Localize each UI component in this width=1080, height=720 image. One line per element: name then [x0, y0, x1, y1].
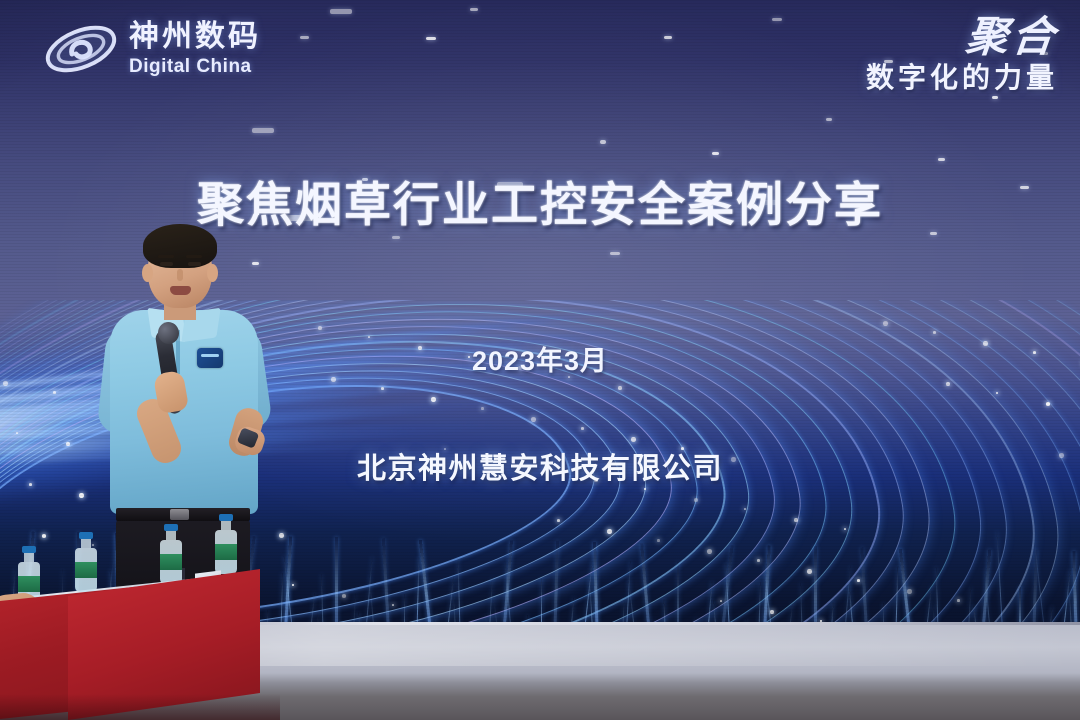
speaker-brow-right — [186, 255, 202, 258]
digital-china-swirl-icon — [42, 18, 120, 80]
speaker-ear-right — [207, 264, 218, 282]
water-bottle — [215, 514, 237, 574]
conference-stage-photo: 神州数码 Digital China 聚合 数字化的力量 聚焦烟草行业工控安全案… — [0, 0, 1080, 720]
screen-particle — [610, 252, 620, 255]
speaker-eye-right — [188, 262, 201, 266]
screen-particle — [392, 236, 400, 239]
screen-particle — [426, 37, 436, 40]
screen-particle — [300, 36, 309, 39]
screen-particle — [772, 18, 782, 21]
speaker-brow-left — [158, 255, 174, 258]
logo-english-name: Digital China — [129, 57, 261, 76]
calligraphy-juhe: 聚合 — [964, 16, 1060, 58]
water-bottle — [75, 532, 97, 592]
water-bottle — [160, 524, 182, 584]
speaker-ear-left — [142, 264, 153, 282]
screen-particle — [992, 96, 998, 99]
speaker-chest-logo — [197, 348, 223, 368]
speaker-nose — [177, 269, 183, 281]
screen-particle — [252, 128, 274, 133]
logo-chinese-name: 神州数码 — [129, 22, 261, 52]
foreground-table — [0, 570, 260, 720]
digital-china-logo: 神州数码 Digital China — [42, 18, 261, 80]
screen-particle — [826, 118, 832, 121]
screen-particle — [330, 9, 352, 14]
presentation-title: 聚焦烟草行业工控安全案例分享 — [0, 181, 1080, 228]
speaker-eye-left — [160, 262, 173, 266]
event-slogan-logo: 聚合 数字化的力量 — [866, 16, 1058, 92]
screen-particle — [600, 140, 606, 144]
speaker-belt-buckle — [170, 509, 189, 520]
speaker-hair — [143, 224, 217, 268]
table-bottom-shadow — [0, 694, 280, 720]
screen-particle — [930, 232, 937, 235]
screen-particle — [664, 36, 672, 39]
screen-particle — [938, 158, 945, 161]
screen-particle — [712, 152, 719, 155]
screen-particle — [470, 8, 478, 11]
slogan-subtitle: 数字化的力量 — [866, 64, 1058, 92]
speaker-mouth — [170, 286, 191, 295]
